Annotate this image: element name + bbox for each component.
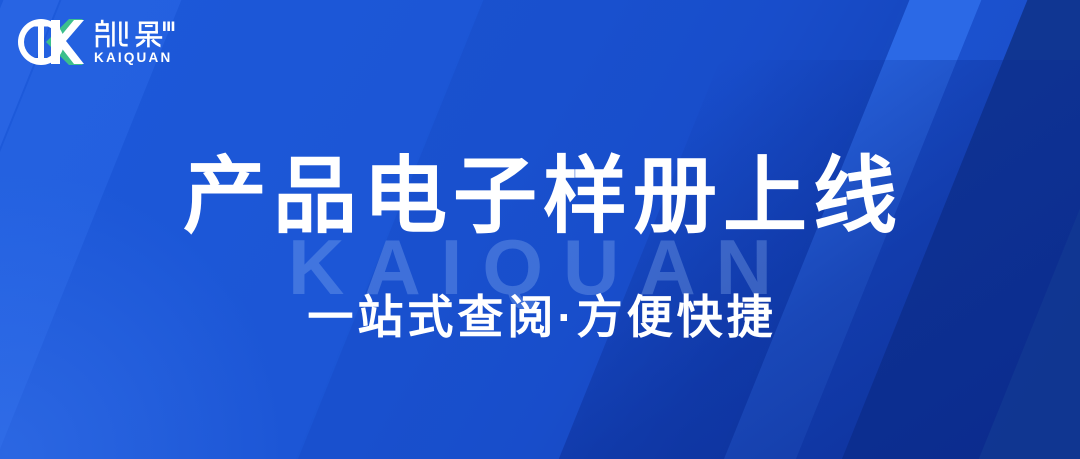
brand-logo: KAIQUAN	[18, 17, 176, 67]
headline-text: 产品电子样册上线	[177, 120, 903, 238]
promo-banner: KAIQUAN	[0, 0, 1080, 459]
brand-name-cn-icon	[94, 19, 176, 49]
subline-text: 一站式查阅·方便快捷	[303, 242, 776, 340]
kaiquan-circle-k-mark-icon	[18, 17, 84, 67]
headline-block: 产品电子样册上线 一站式查阅·方便快捷	[0, 0, 1080, 459]
brand-wordmark: KAIQUAN	[94, 19, 176, 65]
brand-latin-text: KAIQUAN	[94, 51, 172, 65]
